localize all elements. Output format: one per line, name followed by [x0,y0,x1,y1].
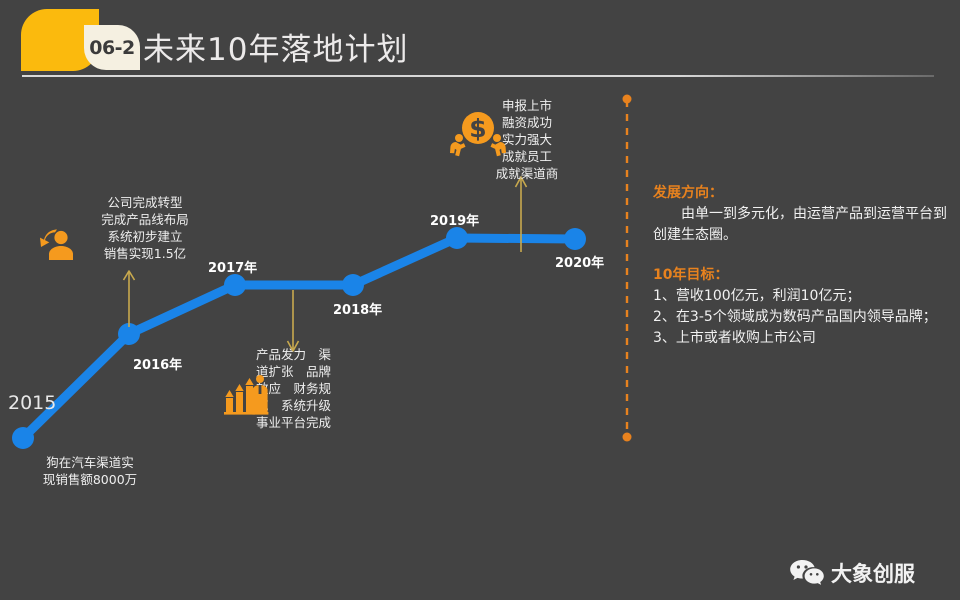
section-divider-dashed [620,90,634,446]
timeline-node-2018 [342,274,364,296]
timeline-node-2019 [446,227,468,249]
growth-bars-icon [222,372,270,420]
year-label-2015: 2015 [8,392,56,414]
page-title: 未来10年落地计划 [143,24,408,69]
right-info-panel: 发展方向： 由单一到多元化，由运营产品到运营平台到创建生态圈。 10年目标： 1… [653,182,948,349]
timeline-node-2017 [224,274,246,296]
ten-year-goals-body: 1、营收100亿元，利润10亿元； 2、在3-5个领域成为数码产品国内领导品牌；… [653,286,948,349]
slide-canvas: 06-2 未来10年落地计划 [0,0,960,600]
year-label-2020: 2020年 [555,252,604,271]
header-badge-number: 06-2 [84,25,140,70]
year-label-2017: 2017年 [208,257,257,276]
year-label-2018: 2018年 [333,299,382,318]
note-2018: 产品发力 渠 道扩张 品牌 效应 财务规 范 系统升级 事业平台完成 [256,346,360,431]
timeline-chart: 2015 2016年 2017年 2018年 2019年 2020年 狗在汽车渠… [0,82,620,542]
divider-dot-bottom [623,433,632,442]
callout-arrow-2016 [124,271,135,327]
slide-header: 06-2 未来10年落地计划 [0,0,960,82]
panel-spacer [653,246,948,264]
callout-arrow-2018 [288,290,299,351]
svg-text:$: $ [469,114,486,143]
person-transform-icon [30,222,80,268]
year-label-2019: 2019年 [430,210,479,229]
note-2015: 狗在汽车渠道实 现销售额8000万 [22,454,158,488]
year-label-2016: 2016年 [133,354,182,373]
divider-dot-top [623,95,632,104]
development-direction-body: 由单一到多元化，由运营产品到运营平台到创建生态圈。 [653,204,948,246]
development-direction-heading: 发展方向： [653,182,948,202]
note-2016: 公司完成转型 完成产品线布局 系统初步建立 销售实现1.5亿 [80,194,210,262]
timeline-node-2020 [564,228,586,250]
header-divider-rule [22,75,934,77]
watermark-text: 大象创服 [831,558,915,588]
ten-year-goals-heading: 10年目标： [653,264,948,284]
timeline-node-2015 [12,427,34,449]
money-push-icon: $ [450,108,506,160]
wechat-icon [790,560,824,586]
watermark: 大象创服 [790,558,915,588]
